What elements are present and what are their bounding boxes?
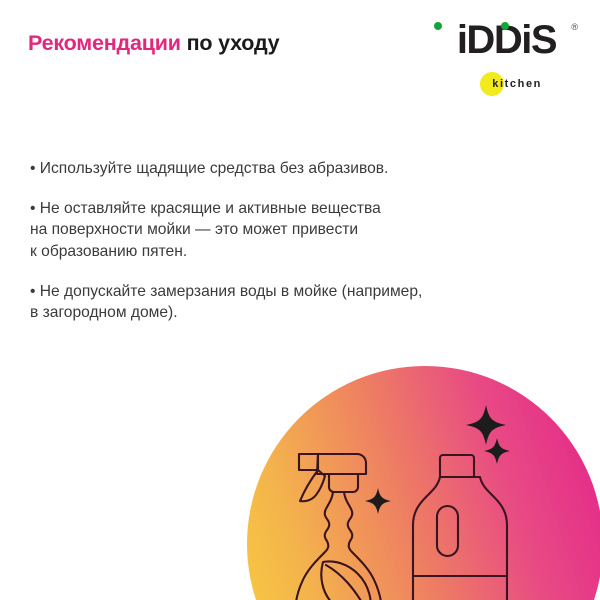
list-item: • Не оставляйте красящие и активные веще… <box>30 198 540 262</box>
care-recommendations-card: Рекомендации по уходу iDDiS ® kitchen • … <box>0 0 600 600</box>
page-title-accent: Рекомендации <box>28 31 181 55</box>
cleaning-products-illustration <box>247 366 600 600</box>
recommendations-list: • Используйте щадящие средства без абраз… <box>30 158 540 323</box>
list-item: • Используйте щадящие средства без абраз… <box>30 158 540 179</box>
logo-green-dot-icon <box>501 22 509 30</box>
detergent-bottle-icon <box>413 455 507 600</box>
list-item: • Не допускайте замерзания воды в мойке … <box>30 281 540 323</box>
registered-trademark-icon: ® <box>571 23 578 32</box>
page-title: Рекомендации по уходу <box>28 33 279 55</box>
cleaning-products-icons <box>247 366 600 600</box>
page-title-plain: по уходу <box>181 31 280 55</box>
logo-green-dot-icon <box>434 22 442 30</box>
spray-bottle-icon <box>295 454 382 600</box>
logo-sub-brand: kitchen <box>492 71 542 97</box>
sparkle-icon <box>365 405 510 514</box>
header: Рекомендации по уходу iDDiS ® kitchen <box>0 0 600 110</box>
logo-sub-label: kitchen <box>492 79 542 90</box>
iddis-logo: iDDiS ® kitchen <box>428 20 578 98</box>
